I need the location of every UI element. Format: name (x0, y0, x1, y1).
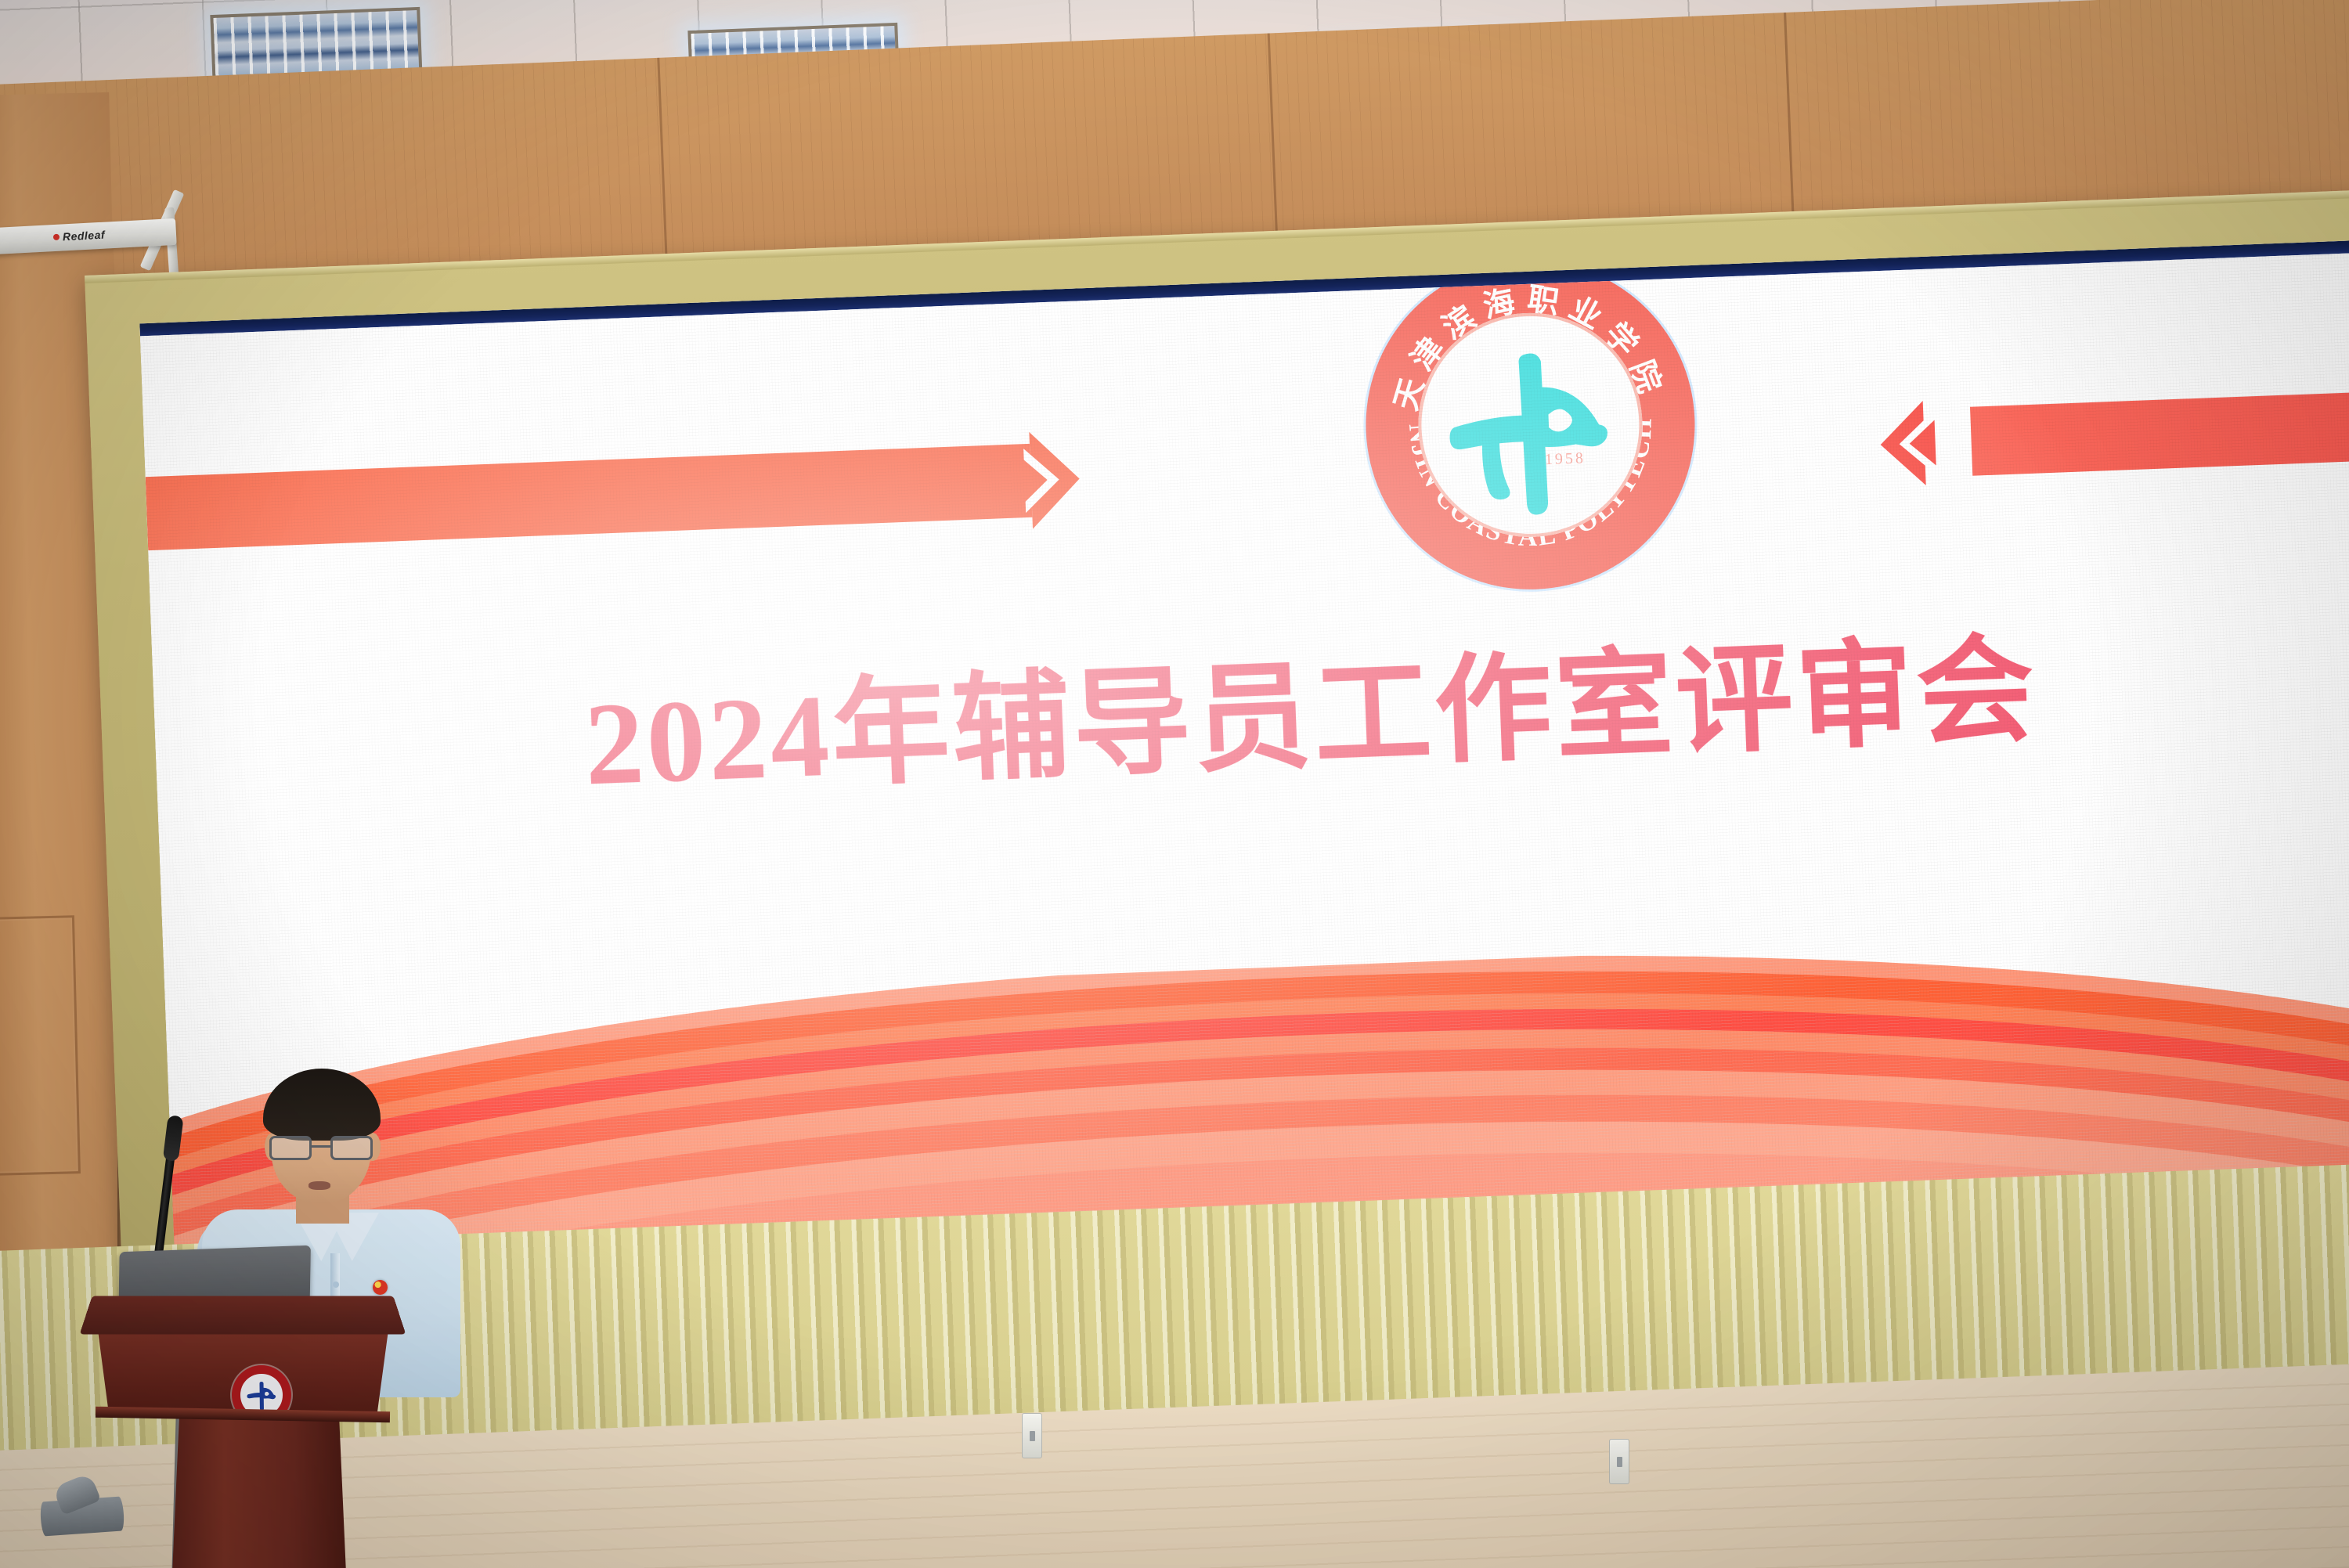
lens-left (269, 1136, 312, 1160)
slide-title: 2024年辅导员工作室评审会 (154, 615, 2349, 820)
wall-outlet-plate[interactable] (1022, 1413, 1042, 1458)
glasses-bridge (312, 1145, 332, 1148)
podium-zhong-glyph-icon (244, 1379, 280, 1411)
logo-founded-year: 1958 (1545, 449, 1586, 469)
mouth (309, 1181, 330, 1190)
left-arrow-banner (140, 444, 1032, 551)
redleaf-brand-label: Redleaf (63, 229, 106, 243)
right-arrow-notch-inner (1909, 420, 1936, 466)
left-arrow-notch-inner (1017, 453, 1048, 507)
auditorium-scene: Redleaf (0, 0, 2349, 1568)
hair (263, 1069, 381, 1141)
wall-panel-seam (0, 915, 81, 1176)
podium-front-face (97, 1325, 388, 1417)
right-arrow-banner (1970, 387, 2349, 475)
podium-column (172, 1417, 346, 1568)
podium (92, 1292, 396, 1568)
brand-dot-icon (53, 234, 60, 240)
led-screen-display[interactable]: TIANJIN COASTAL POLYTECHNIC 天津滨海职业学院 (139, 237, 2349, 1314)
school-logo: TIANJIN COASTAL POLYTECHNIC 天津滨海职业学院 (1360, 254, 1701, 595)
slide-canvas: TIANJIN COASTAL POLYTECHNIC 天津滨海职业学院 (140, 250, 2349, 1314)
lens-right (330, 1136, 373, 1160)
logo-zhong-glyph-icon (1425, 333, 1636, 524)
wall-switch-plate[interactable] (1609, 1439, 1629, 1484)
podium-desktop-surface (80, 1296, 406, 1334)
eyeglasses-icon (268, 1136, 376, 1161)
